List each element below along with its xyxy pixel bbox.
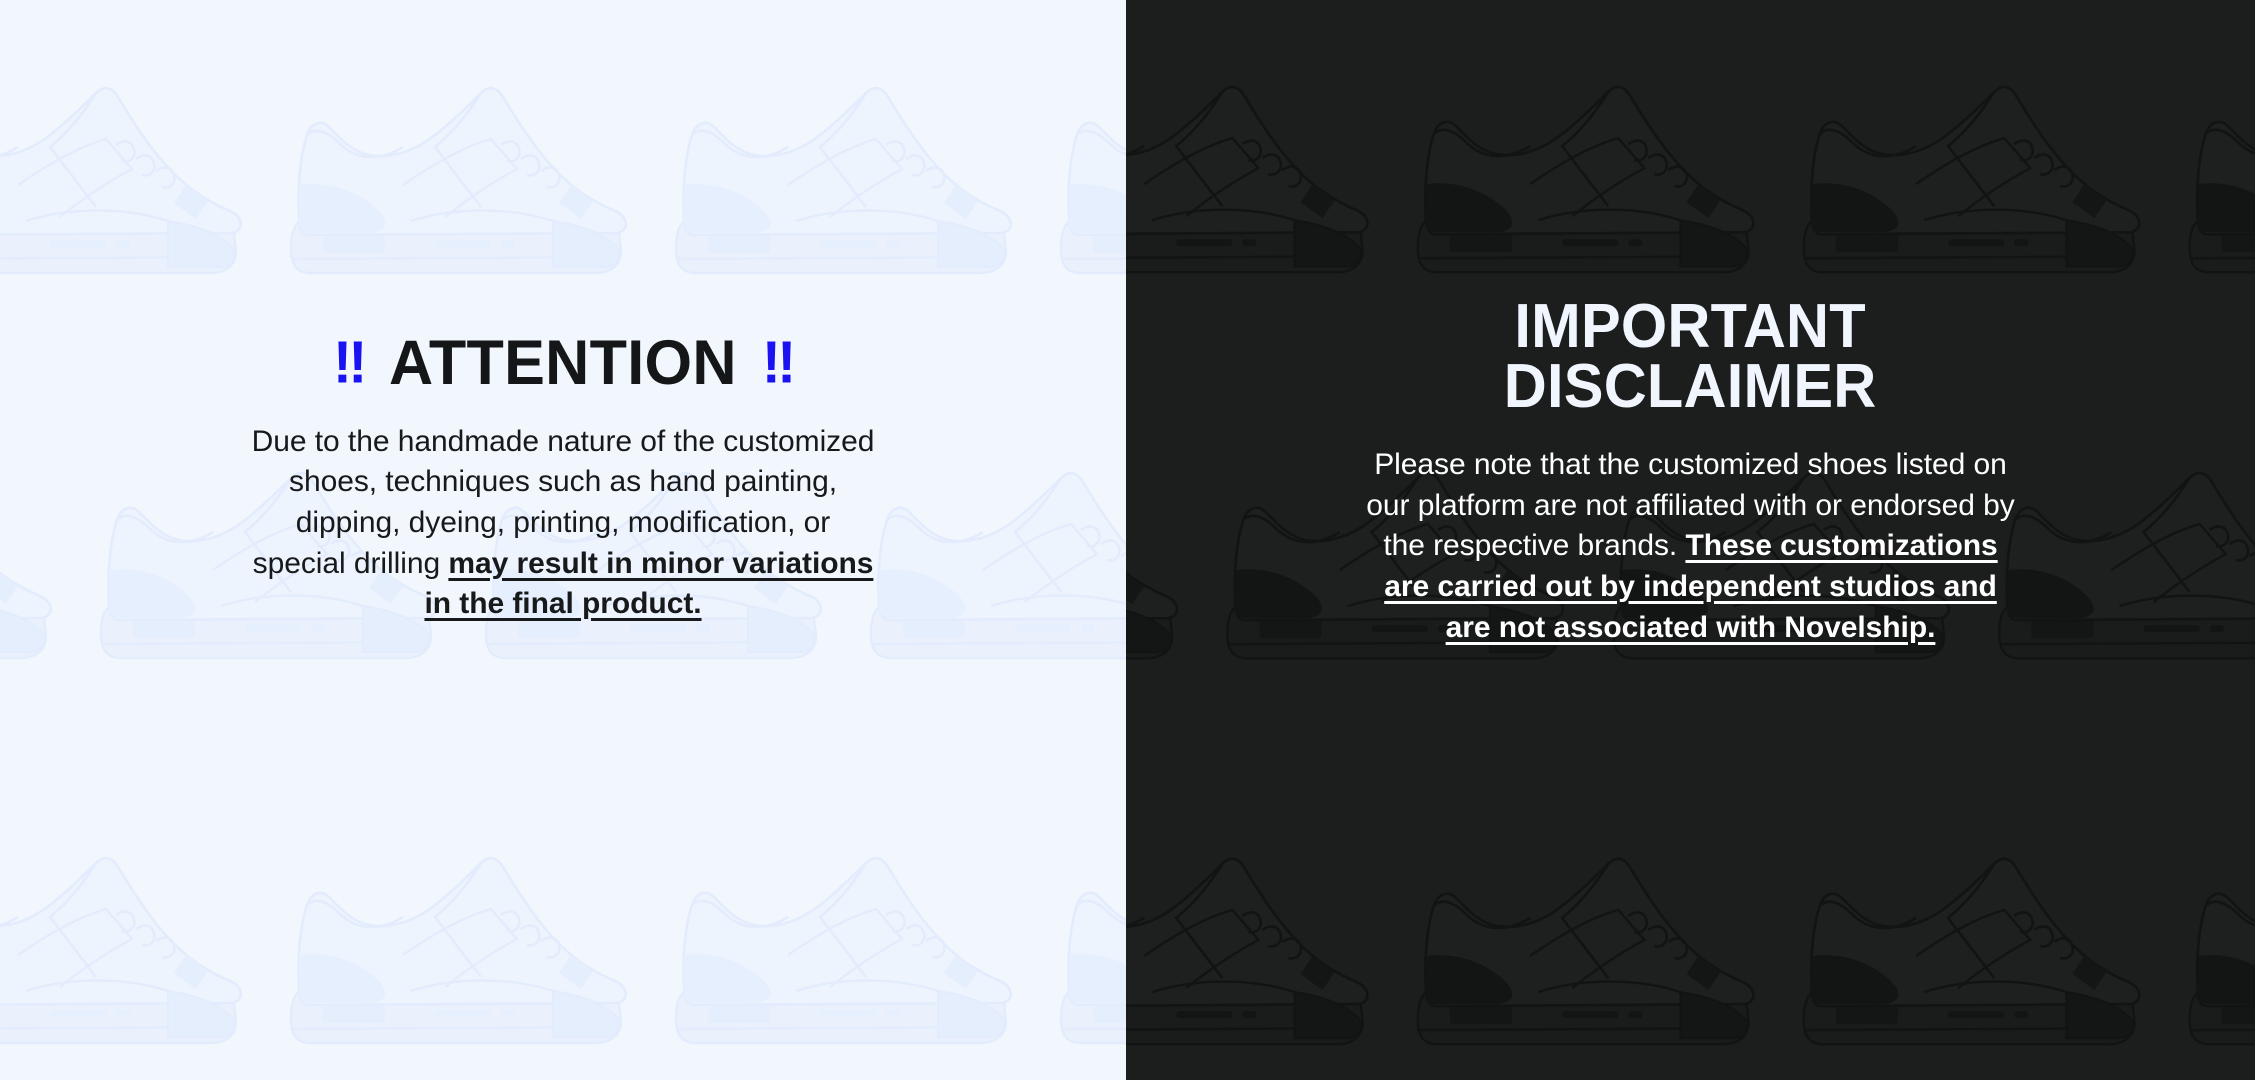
attention-body-emphasis: may result in minor variations in the fi… (424, 547, 873, 621)
disclaimer-body: Please note that the customized shoes li… (1361, 445, 2021, 648)
attention-body: Due to the handmade nature of the custom… (248, 422, 878, 625)
split-banner: ‼ ATTENTION ‼ Due to the handmade nature… (0, 0, 2255, 1080)
attention-content: ‼ ATTENTION ‼ Due to the handmade nature… (0, 0, 1126, 1080)
disclaimer-panel: IMPORTANT DISCLAIMER Please note that th… (1126, 0, 2255, 1080)
disclaimer-heading-line-1: IMPORTANT (1515, 292, 1867, 361)
double-exclamation-right-icon: ‼ (762, 333, 793, 392)
disclaimer-heading: IMPORTANT DISCLAIMER (1504, 297, 1877, 416)
double-exclamation-left-icon: ‼ (333, 333, 364, 392)
attention-heading-text: ATTENTION (389, 333, 737, 395)
disclaimer-content: IMPORTANT DISCLAIMER Please note that th… (1126, 0, 2255, 1080)
attention-heading: ‼ ATTENTION ‼ (333, 333, 793, 395)
disclaimer-heading-line-2: DISCLAIMER (1504, 357, 1877, 417)
attention-panel: ‼ ATTENTION ‼ Due to the handmade nature… (0, 0, 1126, 1080)
